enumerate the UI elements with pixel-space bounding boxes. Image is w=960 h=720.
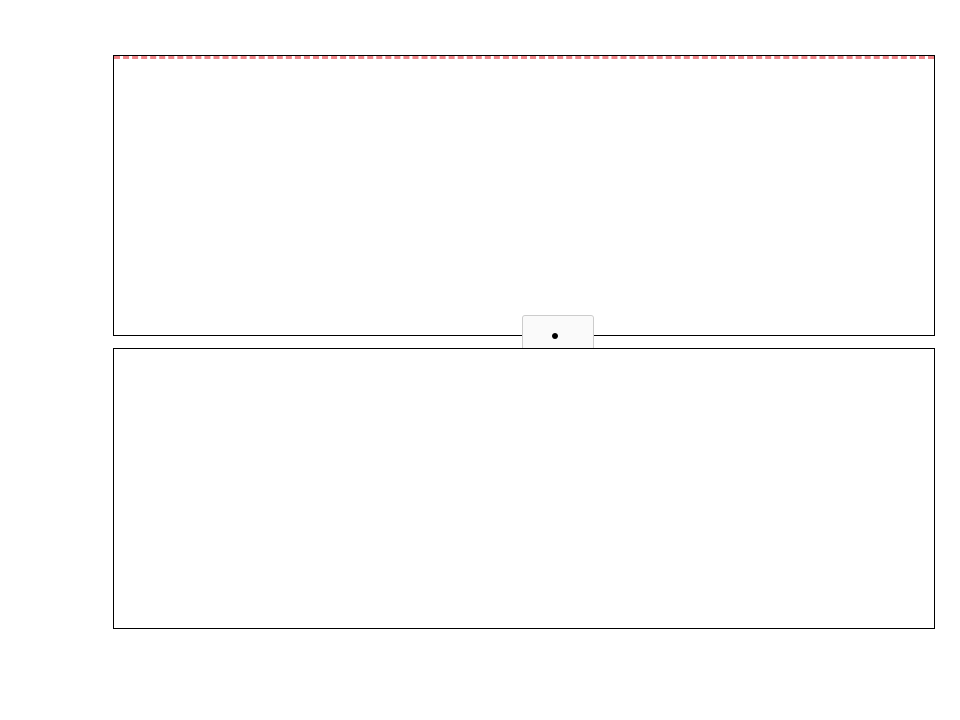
bottom-panel-axes: + ✖ bbox=[113, 348, 935, 629]
bottom-plot-area bbox=[114, 349, 934, 628]
threshold-line bbox=[114, 56, 934, 59]
figure-canvas: + ✖ bbox=[0, 0, 960, 720]
top-plot-area bbox=[114, 56, 934, 335]
legend-row-measurements[interactable] bbox=[532, 323, 582, 348]
top-panel-axes bbox=[113, 55, 935, 336]
dot-marker-icon bbox=[532, 333, 578, 339]
